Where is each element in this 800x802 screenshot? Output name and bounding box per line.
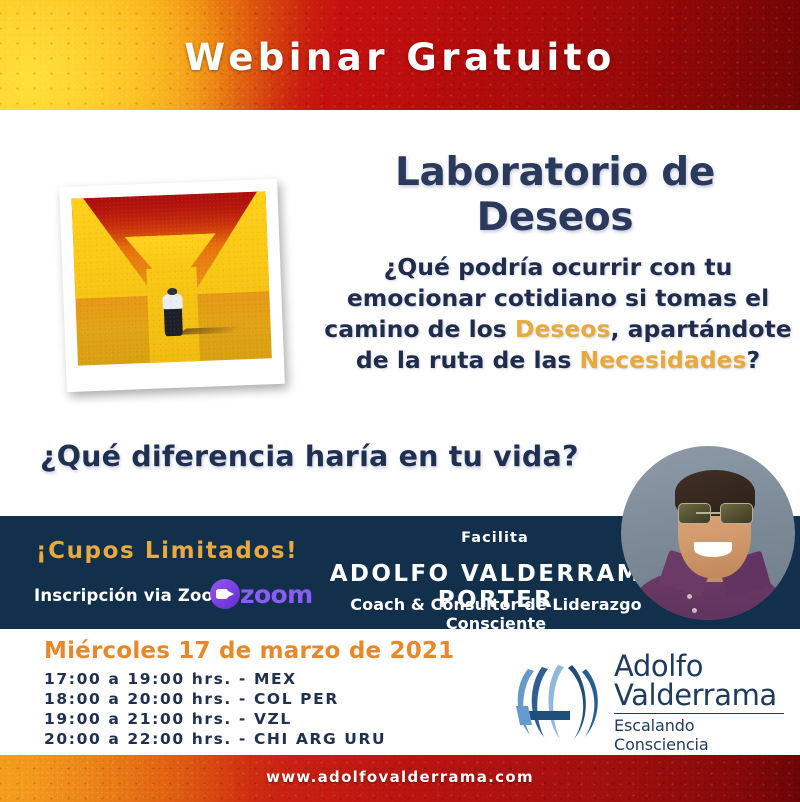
time-row: 19:00 a 21:00 hrs. - VZL: [44, 709, 386, 729]
brand-logo: Adolfo Valderrama Escalando Consciencia: [512, 655, 786, 749]
brand-wordmark: Adolfo Valderrama Escalando Consciencia: [614, 650, 786, 755]
artwork-figure-torso: [163, 293, 183, 309]
artwork-figure-shadow: [177, 327, 245, 336]
artwork-figure-head: [167, 287, 177, 295]
artwork-figure-legs: [164, 307, 182, 336]
lead-highlight-deseos: Deseos: [515, 315, 611, 343]
brand-line-2: Valderrama: [614, 681, 786, 710]
avatar: [621, 446, 795, 620]
zoom-camera-icon: [210, 579, 240, 609]
lead-part-3: ?: [746, 346, 760, 374]
artwork-image: [72, 191, 272, 365]
time-row: 20:00 a 22:00 hrs. - CHI ARG URU: [44, 729, 386, 749]
brand-tagline: Escalando Consciencia: [614, 716, 786, 754]
av-monogram-icon: [512, 659, 608, 745]
zoom-logo[interactable]: zoom: [210, 579, 313, 609]
banner-title: Webinar Gratuito: [0, 36, 800, 79]
event-date: Miércoles 17 de marzo de 2021: [44, 638, 454, 664]
time-row: 17:00 a 19:00 hrs. - MEX: [44, 669, 386, 689]
facilita-label: Facilita: [330, 530, 660, 546]
avatar-glasses-bridge: [696, 512, 720, 514]
avatar-lens-right: [720, 503, 753, 524]
av-monogram-svg: [512, 659, 608, 745]
brand-divider: [614, 713, 784, 715]
website-url[interactable]: www.adolfovalderrama.com: [0, 768, 800, 786]
video-camera-glyph: [216, 589, 228, 599]
signup-label: Inscripción via Zoom: [34, 586, 230, 605]
lead-highlight-necesidades: Necesidades: [580, 346, 747, 374]
schedule-times: 17:00 a 19:00 hrs. - MEX 18:00 a 20:00 h…: [44, 669, 386, 749]
page-title: Laboratorio de Deseos: [320, 150, 790, 240]
artwork-frame: [59, 179, 285, 392]
webinar-poster: Webinar Gratuito Laboratorio de Deseos ¿…: [0, 0, 800, 802]
brand-line-1: Adolfo: [614, 652, 786, 681]
limited-slots-text: ¡Cupos Limitados!: [36, 538, 298, 564]
lead-paragraph: ¿Qué podría ocurrir con tu emocionar cot…: [322, 252, 794, 376]
time-row: 18:00 a 20:00 hrs. - COL PER: [44, 689, 386, 709]
sub-question: ¿Qué diferencia haría en tu vida?: [40, 440, 640, 473]
